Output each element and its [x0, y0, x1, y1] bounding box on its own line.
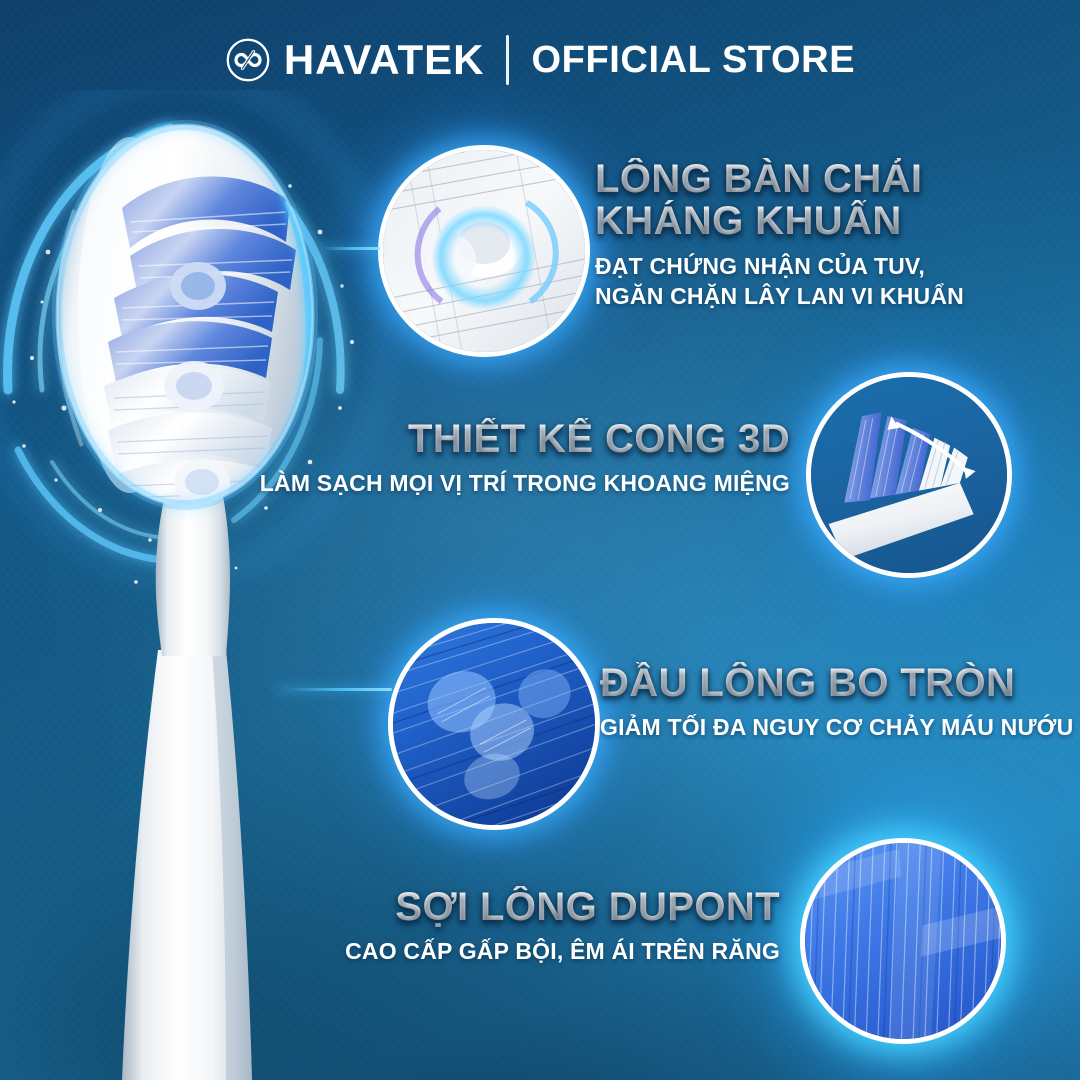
- feature-4-subtitle: CAO CẤP GẤP BỘI, ÊM ÁI TRÊN RĂNG: [300, 937, 780, 965]
- feature-1-image-circle[interactable]: [378, 145, 590, 357]
- feature-2-title: THIẾT KẾ CONG 3D: [250, 418, 790, 460]
- feature-2-image-circle[interactable]: [806, 372, 1012, 578]
- feature-3-image-circle[interactable]: [388, 618, 600, 830]
- feature-1-text: LÔNG BÀN CHẢI KHÁNG KHUẨN ĐẠT CHỨNG NHẬN…: [595, 158, 1015, 310]
- feature-2-text: THIẾT KẾ CONG 3D LÀM SẠCH MỌI VỊ TRÍ TRO…: [250, 418, 790, 497]
- connector-line-1: [318, 247, 380, 250]
- connector-line-3: [276, 688, 392, 691]
- feature-1-title-line2: KHÁNG KHUẨN: [595, 200, 1015, 242]
- feature-4-image-circle[interactable]: [800, 838, 1006, 1044]
- curved-bristle-profile-arrow-icon: [811, 377, 1007, 573]
- feature-2-subtitle: LÀM SẠCH MỌI VỊ TRÍ TRONG KHOANG MIỆNG: [250, 469, 790, 497]
- product-infographic-poster: HAVATEK OFFICIAL STORE: [0, 0, 1080, 1080]
- feature-3-text: ĐẦU LÔNG BO TRÒN GIẢM TỐI ĐA NGUY CƠ CHẢ…: [600, 662, 1040, 741]
- feature-4-text: SỢI LÔNG DUPONT CAO CẤP GẤP BỘI, ÊM ÁI T…: [300, 886, 780, 965]
- brand-lockup[interactable]: HAVATEK: [225, 37, 485, 83]
- brand-name: HAVATEK: [284, 39, 485, 81]
- dupont-filament-strands-icon: [805, 843, 1001, 1039]
- feature-1-subtitle-line2: NGĂN CHẶN LÂY LAN VI KHUẨN: [595, 282, 1015, 310]
- header-divider: [506, 35, 509, 85]
- store-label: OFFICIAL STORE: [531, 41, 855, 79]
- blue-bristle-tips-icon: [393, 623, 595, 825]
- feature-1-subtitle-line1: ĐẠT CHỨNG NHẬN CỦA TUV,: [595, 252, 1015, 280]
- bristle-closeup-white-icon: [383, 150, 585, 352]
- feature-1-title-line1: LÔNG BÀN CHẢI: [595, 158, 1015, 200]
- store-header: HAVATEK OFFICIAL STORE: [0, 24, 1080, 96]
- havatek-infinity-logo-icon: [225, 37, 271, 83]
- feature-3-subtitle: GIẢM TỐI ĐA NGUY CƠ CHẢY MÁU NƯỚU: [600, 713, 1040, 741]
- feature-4-title: SỢI LÔNG DUPONT: [300, 886, 780, 928]
- feature-3-title: ĐẦU LÔNG BO TRÒN: [600, 662, 1040, 704]
